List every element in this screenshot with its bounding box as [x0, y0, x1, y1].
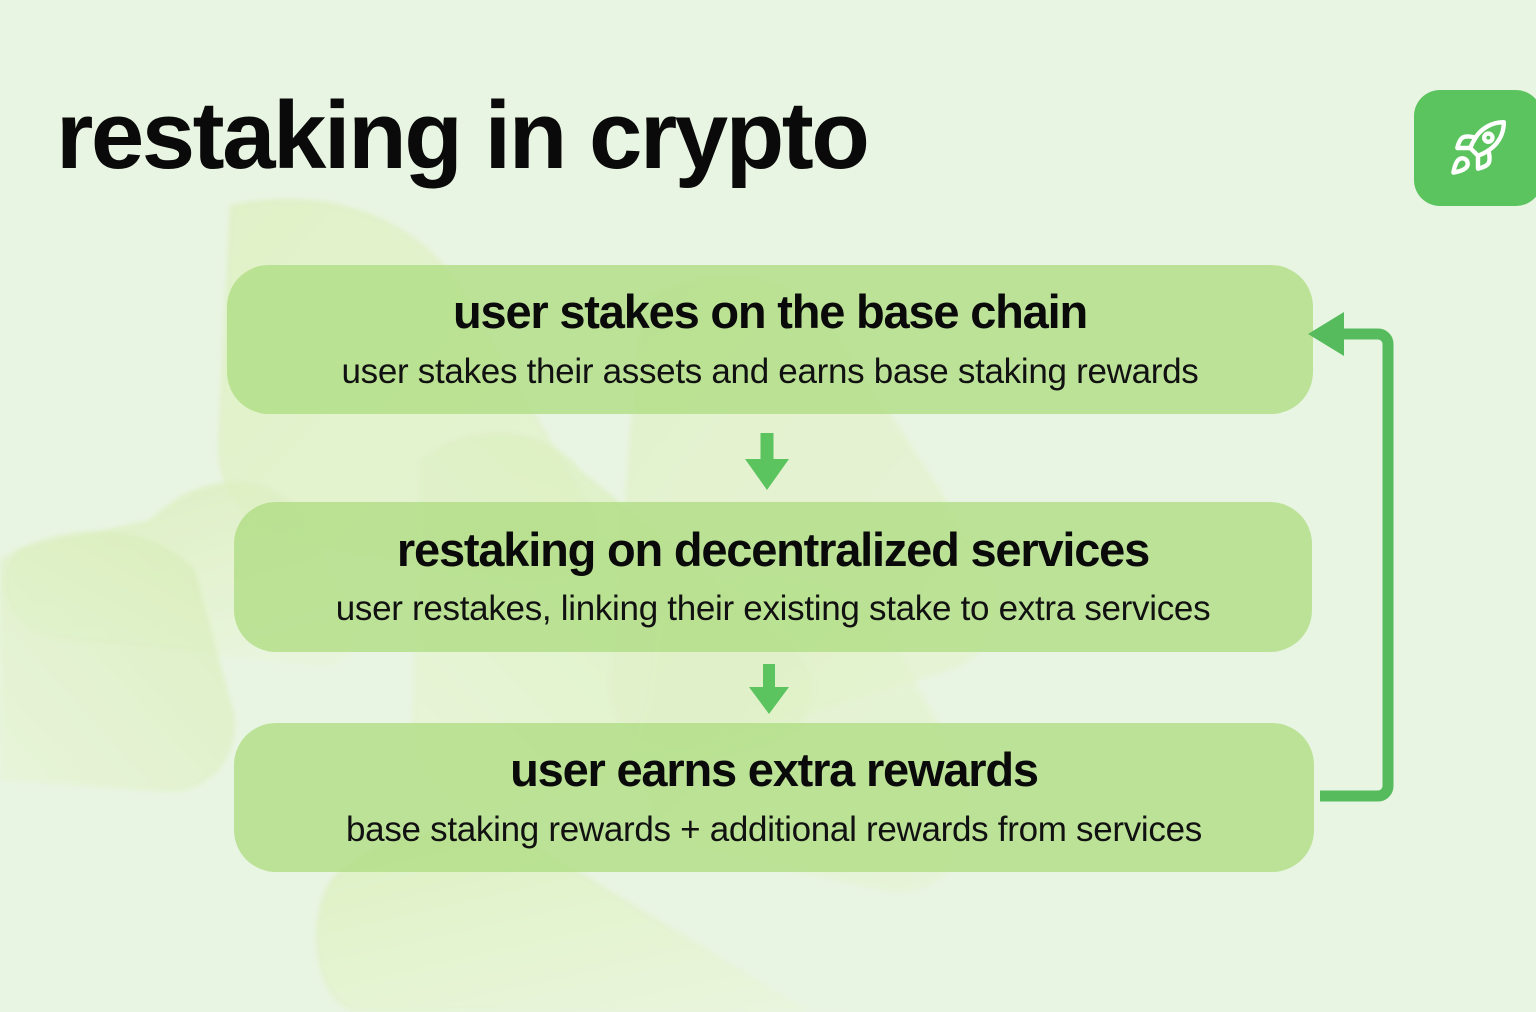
logo-badge[interactable]	[1414, 90, 1536, 206]
arrow-down-icon	[748, 664, 790, 721]
flow-step-title: user earns extra rewards	[510, 745, 1038, 794]
page-title: restaking in crypto	[56, 88, 867, 184]
flow-step-card-3[interactable]: user earns extra rewards base staking re…	[234, 723, 1314, 872]
infographic-canvas: restaking in crypto user stakes on the b…	[0, 0, 1536, 1012]
rocket-icon	[1447, 117, 1509, 179]
flow-step-subtitle: base staking rewards + additional reward…	[346, 810, 1202, 850]
flow-step-card-1[interactable]: user stakes on the base chain user stake…	[227, 265, 1313, 414]
arrow-down-icon	[744, 433, 790, 498]
loop-back-arrow-icon	[1300, 310, 1410, 820]
flow-step-subtitle: user restakes, linking their existing st…	[336, 589, 1211, 629]
flow-step-subtitle: user stakes their assets and earns base …	[342, 352, 1199, 392]
flow-step-title: restaking on decentralized services	[397, 525, 1149, 574]
flow-step-title: user stakes on the base chain	[453, 287, 1087, 336]
flow-step-card-2[interactable]: restaking on decentralized services user…	[234, 502, 1312, 652]
